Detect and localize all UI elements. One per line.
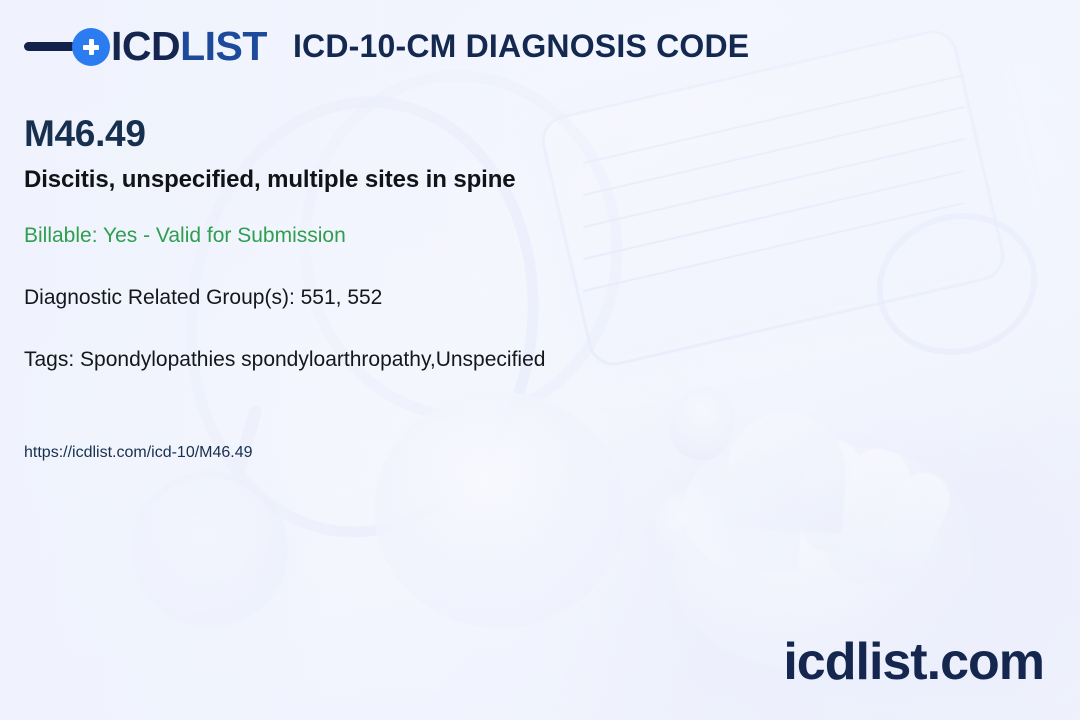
tags-line: Tags: Spondylopathies spondyloarthropath…: [24, 348, 545, 372]
logo-word-list: LIST: [180, 23, 267, 69]
page-title: ICD-10-CM DIAGNOSIS CODE: [293, 28, 749, 65]
plus-circle-icon: [72, 28, 110, 66]
icdlist-logo[interactable]: ICDLIST: [24, 26, 267, 67]
source-url[interactable]: https://icdlist.com/icd-10/M46.49: [24, 444, 253, 462]
site-watermark: icdlist.com: [783, 632, 1044, 692]
billable-status: Billable: Yes - Valid for Submission: [24, 224, 346, 248]
diagnosis-description: Discitis, unspecified, multiple sites in…: [24, 166, 516, 194]
diagnostic-related-groups: Diagnostic Related Group(s): 551, 552: [24, 286, 382, 310]
logo-word-icd: ICD: [111, 23, 180, 69]
diagnosis-code: M46.49: [24, 113, 146, 155]
logo-wordmark: ICDLIST: [111, 26, 267, 67]
page-header: ICDLIST ICD-10-CM DIAGNOSIS CODE: [24, 26, 749, 67]
icd-code-card: ICDLIST ICD-10-CM DIAGNOSIS CODE M46.49 …: [0, 0, 1080, 720]
dash-icon: [24, 42, 76, 51]
